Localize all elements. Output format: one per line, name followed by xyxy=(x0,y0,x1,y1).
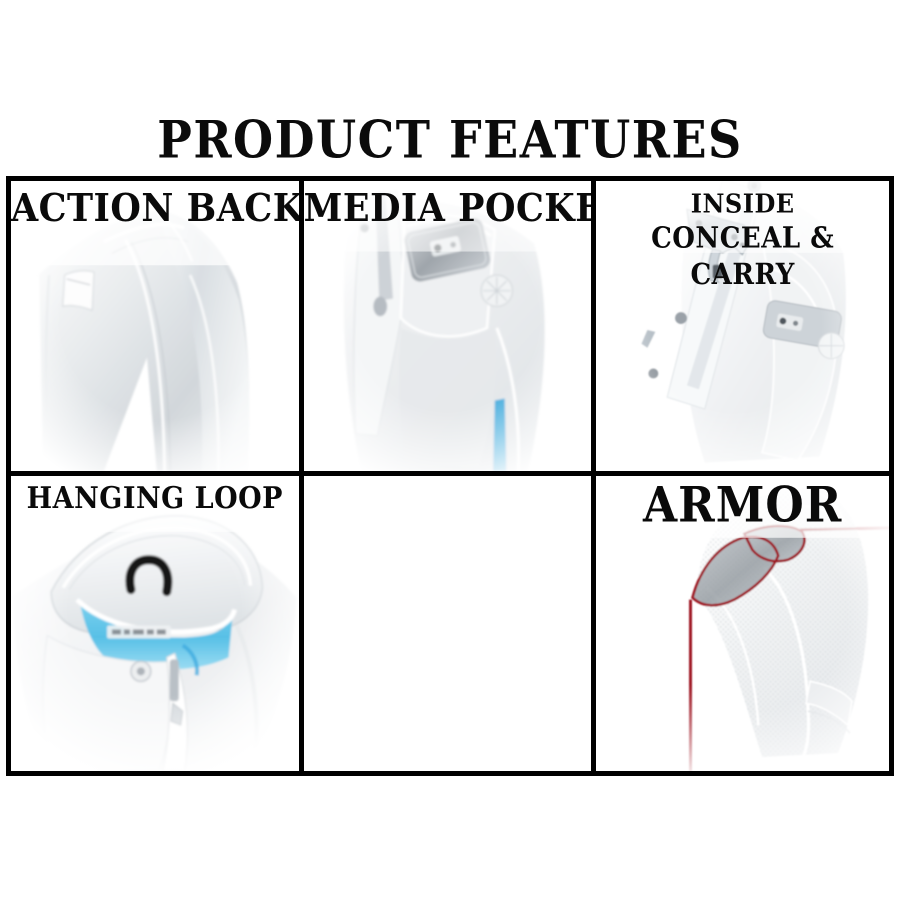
feature-cell-blank[interactable] xyxy=(304,476,597,771)
feature-title-line-inside: INSIDE xyxy=(691,187,795,219)
feature-cell-action-back[interactable]: ACTION BACK xyxy=(11,181,304,476)
feature-title-action-back: ACTION BACK xyxy=(11,189,299,228)
feature-cell-armor[interactable]: ARMOR xyxy=(596,476,889,771)
feature-title-media-pocket: MEDIA POCKET xyxy=(304,189,592,228)
page-title: PRODUCT FEATURES xyxy=(0,114,900,166)
feature-image-hanging-loop xyxy=(11,476,299,771)
feature-cell-inside-conceal-carry[interactable]: INSIDE CONCEAL & CARRY xyxy=(596,181,889,476)
feature-cell-hanging-loop[interactable]: HANGING LOOP xyxy=(11,476,304,771)
product-features-grid: ACTION BACK xyxy=(6,176,894,776)
feature-cell-media-pocket[interactable]: MEDIA POCKET xyxy=(304,181,597,476)
feature-title-line-conceal-carry: CONCEAL & CARRY xyxy=(596,221,889,294)
feature-title-inside-conceal-carry: INSIDE CONCEAL & CARRY xyxy=(596,187,889,294)
feature-title-hanging-loop: HANGING LOOP xyxy=(11,484,299,514)
feature-title-armor: ARMOR xyxy=(596,482,889,531)
